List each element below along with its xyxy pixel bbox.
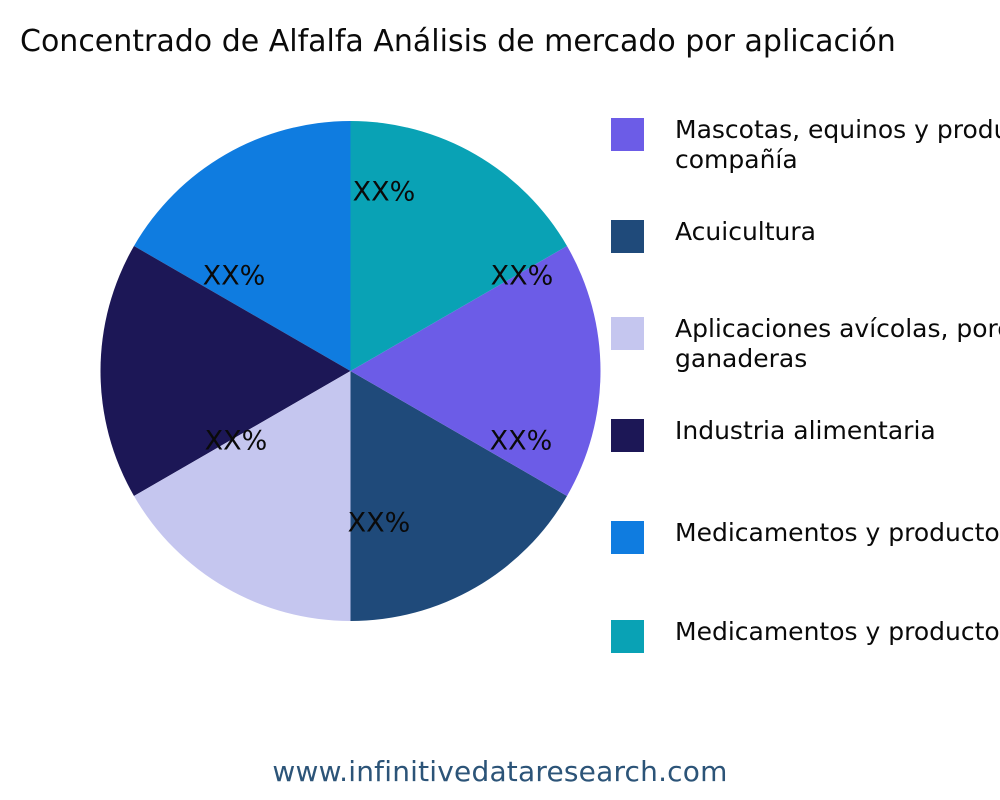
legend-label-2: Aplicaciones avícolas, porcinas y ganade… xyxy=(675,314,1000,374)
chart-canvas: Concentrado de Alfalfa Análisis de merca… xyxy=(0,0,1000,800)
pie-slice-label: XX% xyxy=(203,261,266,292)
legend-swatch-medicamentos-1 xyxy=(611,521,644,554)
pie-slice-group xyxy=(100,121,600,621)
legend-label-0: Mascotas, equinos y productos de compañí… xyxy=(675,115,1000,175)
legend-item-3[interactable]: Industria alimentaria xyxy=(611,419,936,452)
legend-swatch-acuicultura xyxy=(611,220,644,253)
legend-label-3: Industria alimentaria xyxy=(675,416,936,446)
pie-slice-label: XX% xyxy=(490,426,553,457)
legend-item-0[interactable]: Mascotas, equinos y productos de compañí… xyxy=(611,118,1000,175)
pie-slice-label: XX% xyxy=(491,261,554,292)
legend-swatch-mascotas xyxy=(611,118,644,151)
pie-slice-label: XX% xyxy=(353,177,416,208)
legend-label-1: Acuicultura xyxy=(675,217,816,247)
legend-label-5: Medicamentos y productos sanitarios xyxy=(675,617,1000,647)
pie-slice-label: XX% xyxy=(205,426,268,457)
legend-swatch-avicolas xyxy=(611,317,644,350)
legend-swatch-alimentaria xyxy=(611,419,644,452)
legend-item-4[interactable]: Medicamentos y productos veterinarios xyxy=(611,521,1000,554)
footer-website-url[interactable]: www.infinitivedataresearch.com xyxy=(0,755,1000,788)
pie-slice-label: XX% xyxy=(348,508,411,539)
legend-item-5[interactable]: Medicamentos y productos sanitarios xyxy=(611,620,1000,653)
legend-item-1[interactable]: Acuicultura xyxy=(611,220,816,253)
legend-swatch-medicamentos-2 xyxy=(611,620,644,653)
legend-item-2[interactable]: Aplicaciones avícolas, porcinas y ganade… xyxy=(611,317,1000,374)
legend: Mascotas, equinos y productos de compañí… xyxy=(611,0,1000,800)
legend-label-4: Medicamentos y productos veterinarios xyxy=(675,518,1000,548)
